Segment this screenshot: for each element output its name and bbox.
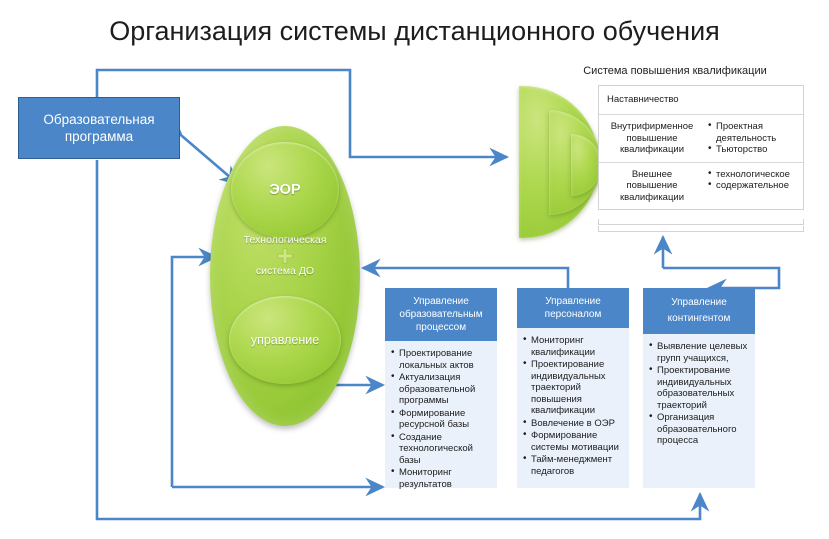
card-contingent[interactable]: Управление контингентом Выявление целевы… xyxy=(643,288,755,488)
list-item: Создание технологической базы xyxy=(391,432,491,467)
list-item: Формирование ресурсной базы xyxy=(391,408,491,431)
list-item: Организация образовательного процесса xyxy=(649,412,749,447)
card-personnel[interactable]: Управление персоналом Мониторинг квалифи… xyxy=(517,288,629,488)
card-body: Проектирование локальных актов Актуализа… xyxy=(385,341,497,501)
list-item: Мониторинг квалификации xyxy=(523,335,623,358)
card-header: Управление персоналом xyxy=(517,288,629,328)
qualification-row-0-left: Наставничество xyxy=(599,86,687,114)
card-body: Мониторинг квалификации Проектирование и… xyxy=(517,328,629,488)
list-item: технологическое xyxy=(708,169,799,181)
list-item: Проектирование индивидуальных траекторий… xyxy=(523,359,623,417)
table-row: Наставничество xyxy=(599,86,803,115)
page-title: Организация системы дистанционного обуче… xyxy=(0,16,829,47)
management-label: управление xyxy=(251,333,319,347)
qualification-row-1-items: Проектная деятельность Тьюторство xyxy=(703,115,803,162)
eor-label: ЭОР xyxy=(269,182,300,198)
card-body: Выявление целевых групп учащихся, Проект… xyxy=(643,334,755,458)
list-item: Тайм-менеджмент педагогов xyxy=(523,454,623,477)
qualification-table-spacer-1 xyxy=(598,219,804,225)
cross-plus-icon xyxy=(276,247,294,265)
list-item: Актуализация образовательной программы xyxy=(391,372,491,407)
qualification-table: Наставничество Внутрифирменное повышение… xyxy=(598,85,804,210)
connector-card2-to-oval xyxy=(363,268,568,288)
tech-line-2: система ДО xyxy=(256,265,314,277)
qualification-row-2-left: Внешнее повышение квалификации xyxy=(599,163,703,210)
list-item: Вовлечение в ОЭР xyxy=(523,418,623,430)
list-item: Проектирование индивидуальных образовате… xyxy=(649,365,749,411)
list-item: Проектная деятельность xyxy=(708,121,799,144)
qualification-caption: Система повышения квалификации xyxy=(530,65,820,77)
card-header: Управление образовательным процессом xyxy=(385,288,497,341)
list-item: Формирование системы мотивации xyxy=(523,430,623,453)
technology-system-label: Технологическая система ДО xyxy=(210,234,360,277)
list-item: Тьюторство xyxy=(708,144,799,156)
list-item: Выявление целевых групп учащихся, xyxy=(649,341,749,364)
management-circle[interactable]: управление xyxy=(229,296,341,384)
connector-bus-to-card3 xyxy=(663,268,779,288)
list-item: Проектирование локальных актов xyxy=(391,348,491,371)
qualification-table-spacer-2 xyxy=(598,226,804,232)
program-line-1: Образовательная xyxy=(43,111,154,128)
list-item: содержательное xyxy=(708,180,799,192)
qualification-row-1-left: Внутрифирменное повышение квалификации xyxy=(599,115,703,162)
diagram-canvas: Организация системы дистанционного обуче… xyxy=(0,0,829,539)
list-item: Мониторинг результатов xyxy=(391,467,491,490)
qualification-row-2-items: технологическое содержательное xyxy=(703,163,803,210)
eor-circle[interactable]: ЭОР xyxy=(231,142,339,238)
table-row: Внешнее повышение квалификации технологи… xyxy=(599,163,803,210)
connector-left-elbow-to-oval xyxy=(172,257,216,487)
program-line-2: программа xyxy=(43,128,154,145)
card-education-process[interactable]: Управление образовательным процессом Про… xyxy=(385,288,497,488)
educational-program-box[interactable]: Образовательная программа xyxy=(18,97,180,159)
tech-line-1: Технологическая xyxy=(244,234,327,246)
table-row: Внутрифирменное повышение квалификации П… xyxy=(599,115,803,163)
card-header: Управление контингентом xyxy=(643,288,755,334)
